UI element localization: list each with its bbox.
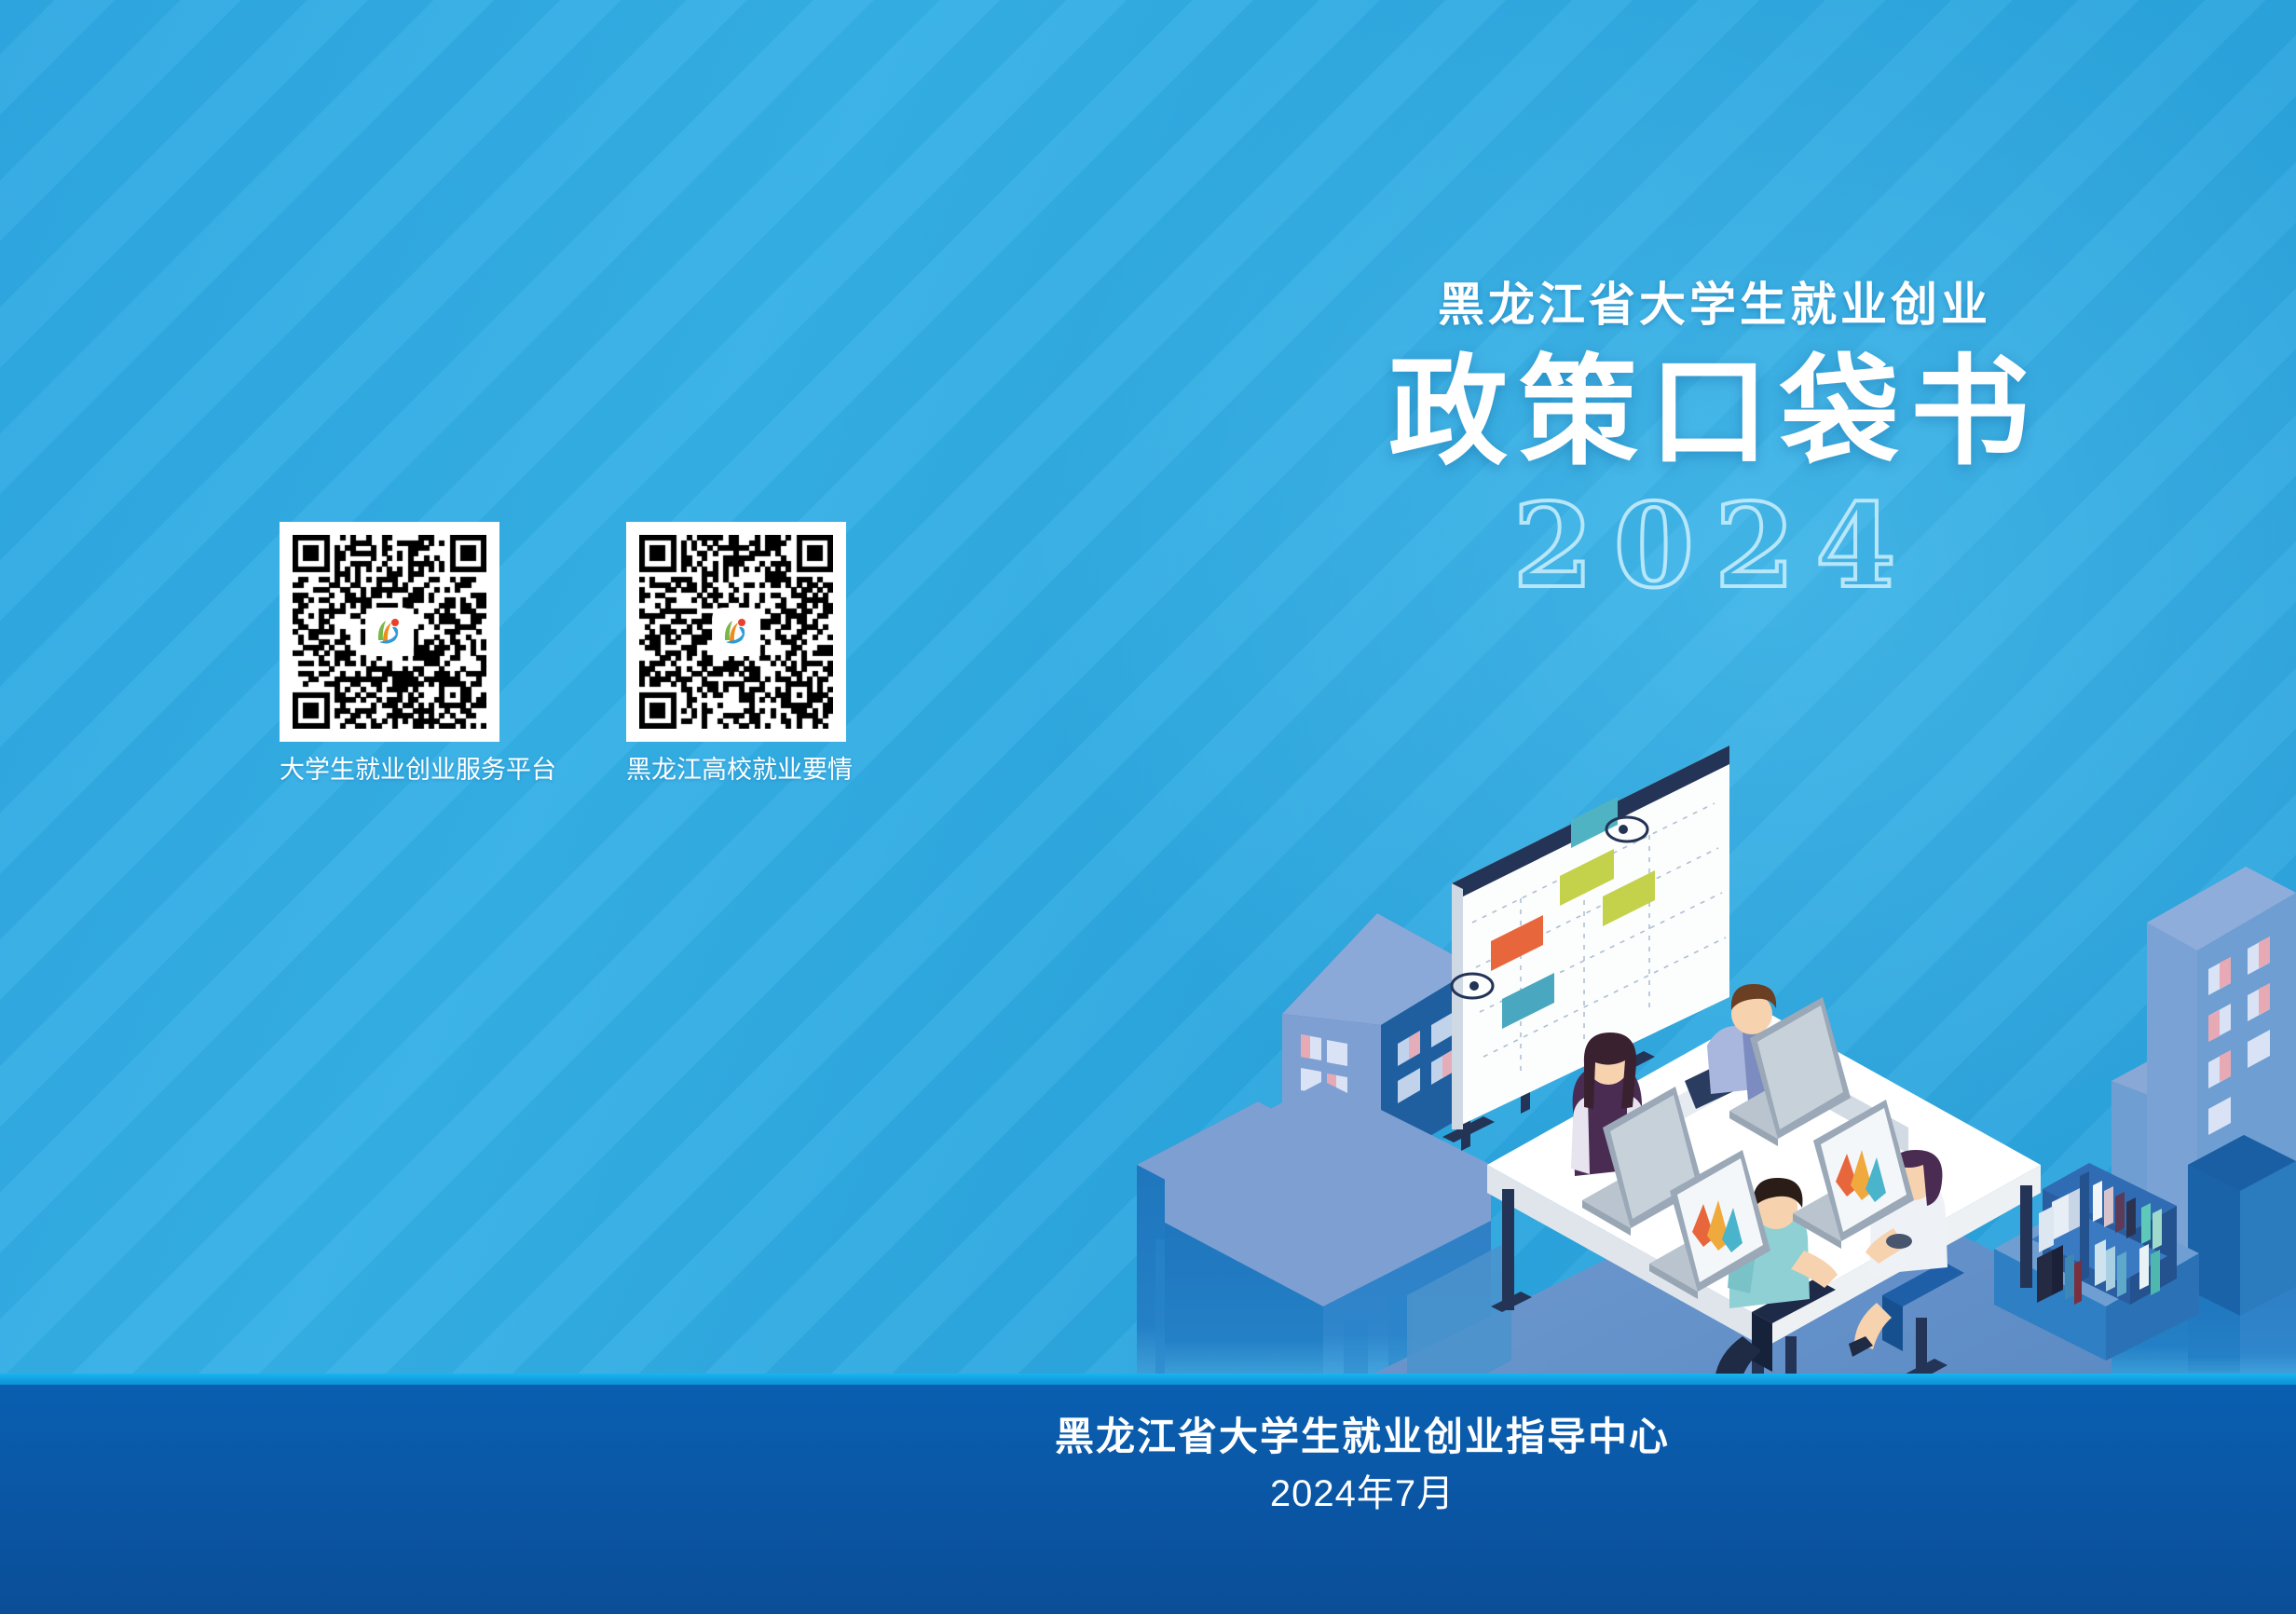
qr-code-box-1[interactable] xyxy=(280,522,499,742)
footer-top-accent-line xyxy=(0,1374,2296,1385)
computer-mouse xyxy=(1886,1234,1912,1249)
footer-band: 黑龙江省大学生就业创业指导中心 2024年7月 xyxy=(0,1374,2296,1614)
qr-label-2: 黑龙江高校就业要情 xyxy=(626,755,846,785)
isometric-office-illustration xyxy=(1100,643,2296,1379)
footer-organization: 黑龙江省大学生就业创业指导中心 xyxy=(429,1413,2296,1462)
footer-date: 2024年7月 xyxy=(429,1470,2296,1518)
employment-service-logo-2 xyxy=(714,609,758,654)
cover-title-block: 黑龙江省大学生就业创业 政策口袋书 2024 xyxy=(1277,280,2152,608)
qr-item-employment-info[interactable]: 黑龙江高校就业要情 xyxy=(626,522,846,785)
qr-code-box-2[interactable] xyxy=(626,522,846,742)
cover-page: 黑龙江省大学生就业创业 政策口袋书 2024 大学生就业创业服务平台 xyxy=(0,0,2296,1614)
qr-code-group: 大学生就业创业服务平台 黑龙江高校就业要情 xyxy=(280,522,846,785)
cover-year: 2024 xyxy=(1277,486,2152,608)
footer-text-group: 黑龙江省大学生就业创业指导中心 2024年7月 xyxy=(0,1413,2296,1518)
qr-item-service-platform[interactable]: 大学生就业创业服务平台 xyxy=(280,522,499,785)
employment-service-logo-1 xyxy=(367,609,412,654)
cover-main-title: 政策口袋书 xyxy=(1277,344,2152,481)
cover-subtitle: 黑龙江省大学生就业创业 xyxy=(1277,280,2152,331)
qr-label-1: 大学生就业创业服务平台 xyxy=(280,755,499,785)
